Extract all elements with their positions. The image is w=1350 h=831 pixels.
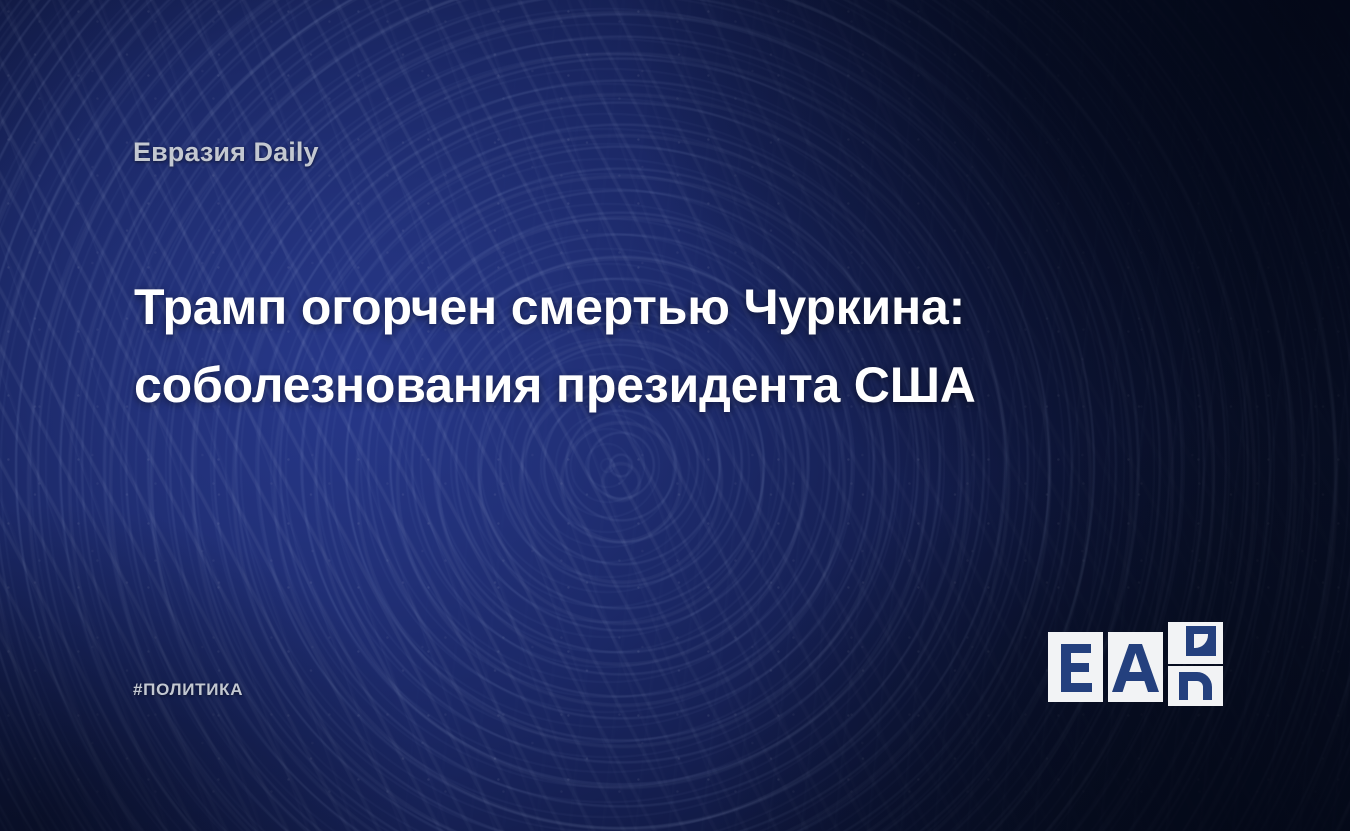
eadaily-logo [1045, 622, 1225, 706]
share-card: Евразия Daily Трамп огорчен смертью Чурк… [0, 0, 1350, 831]
category-hashtag: #ПОЛИТИКА [133, 680, 243, 700]
headline-line-2: соболезнования президента США [134, 346, 1144, 424]
headline-line-1: Трамп огорчен смертью Чуркина: [134, 268, 1144, 346]
publication-masthead: Евразия Daily [133, 137, 319, 168]
headline: Трамп огорчен смертью Чуркина: соболезно… [134, 268, 1144, 424]
card-content: Евразия Daily Трамп огорчен смертью Чурк… [0, 0, 1350, 831]
